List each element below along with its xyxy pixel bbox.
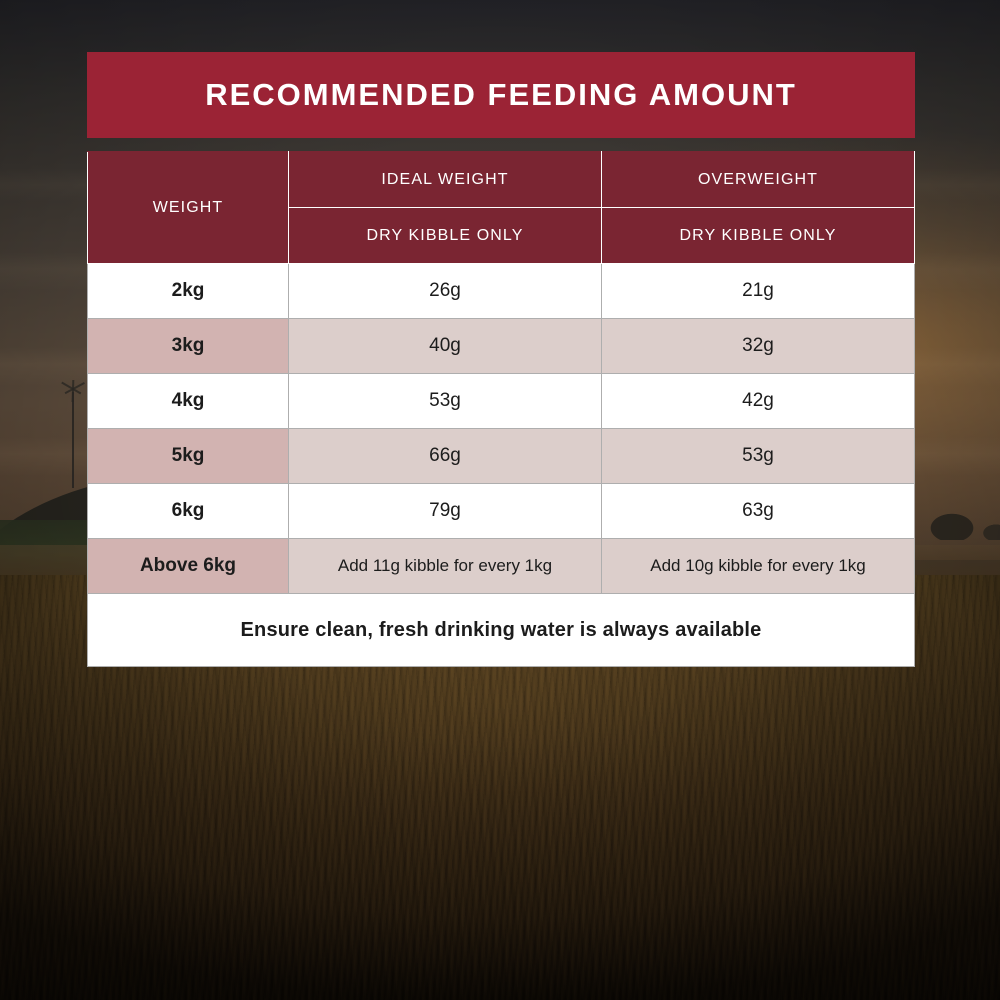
table-head: WEIGHT IDEAL WEIGHT OVERWEIGHT DRY KIBBL…	[88, 152, 915, 264]
water-note: Ensure clean, fresh drinking water is al…	[88, 594, 915, 667]
column-header-overweight: OVERWEIGHT	[602, 152, 915, 208]
column-subheader-overweight-dry-kibble: DRY KIBBLE ONLY	[602, 208, 915, 264]
column-subheader-ideal-dry-kibble: DRY KIBBLE ONLY	[289, 208, 602, 264]
cell-ideal-amount: Add 11g kibble for every 1kg	[289, 539, 602, 594]
table-footer-row: Ensure clean, fresh drinking water is al…	[88, 594, 915, 667]
cell-overweight-amount: 32g	[602, 319, 915, 374]
cell-ideal-amount: 53g	[289, 374, 602, 429]
cell-weight: 6kg	[88, 484, 289, 539]
cell-weight: 4kg	[88, 374, 289, 429]
table-row: Above 6kg Add 11g kibble for every 1kg A…	[88, 539, 915, 594]
cell-overweight-amount: 53g	[602, 429, 915, 484]
cell-ideal-amount: 26g	[289, 264, 602, 319]
cell-ideal-amount: 79g	[289, 484, 602, 539]
cell-overweight-amount: 21g	[602, 264, 915, 319]
column-header-weight: WEIGHT	[88, 152, 289, 264]
cell-overweight-amount: 63g	[602, 484, 915, 539]
table-row: 3kg 40g 32g	[88, 319, 915, 374]
cell-ideal-amount: 66g	[289, 429, 602, 484]
table-row: 6kg 79g 63g	[88, 484, 915, 539]
page-title: RECOMMENDED FEEDING AMOUNT	[205, 77, 797, 113]
cell-weight: 3kg	[88, 319, 289, 374]
cell-weight: 5kg	[88, 429, 289, 484]
table-row: 5kg 66g 53g	[88, 429, 915, 484]
cell-weight: 2kg	[88, 264, 289, 319]
header-row-primary: WEIGHT IDEAL WEIGHT OVERWEIGHT	[88, 152, 915, 208]
cell-overweight-amount: 42g	[602, 374, 915, 429]
column-header-ideal-weight: IDEAL WEIGHT	[289, 152, 602, 208]
table-body: 2kg 26g 21g 3kg 40g 32g 4kg 53g 42g 5kg …	[88, 264, 915, 667]
cell-weight: Above 6kg	[88, 539, 289, 594]
table-row: 2kg 26g 21g	[88, 264, 915, 319]
table-row: 4kg 53g 42g	[88, 374, 915, 429]
title-banner: RECOMMENDED FEEDING AMOUNT	[87, 52, 915, 138]
cell-overweight-amount: Add 10g kibble for every 1kg	[602, 539, 915, 594]
cell-ideal-amount: 40g	[289, 319, 602, 374]
feeding-amount-table: WEIGHT IDEAL WEIGHT OVERWEIGHT DRY KIBBL…	[87, 151, 915, 667]
